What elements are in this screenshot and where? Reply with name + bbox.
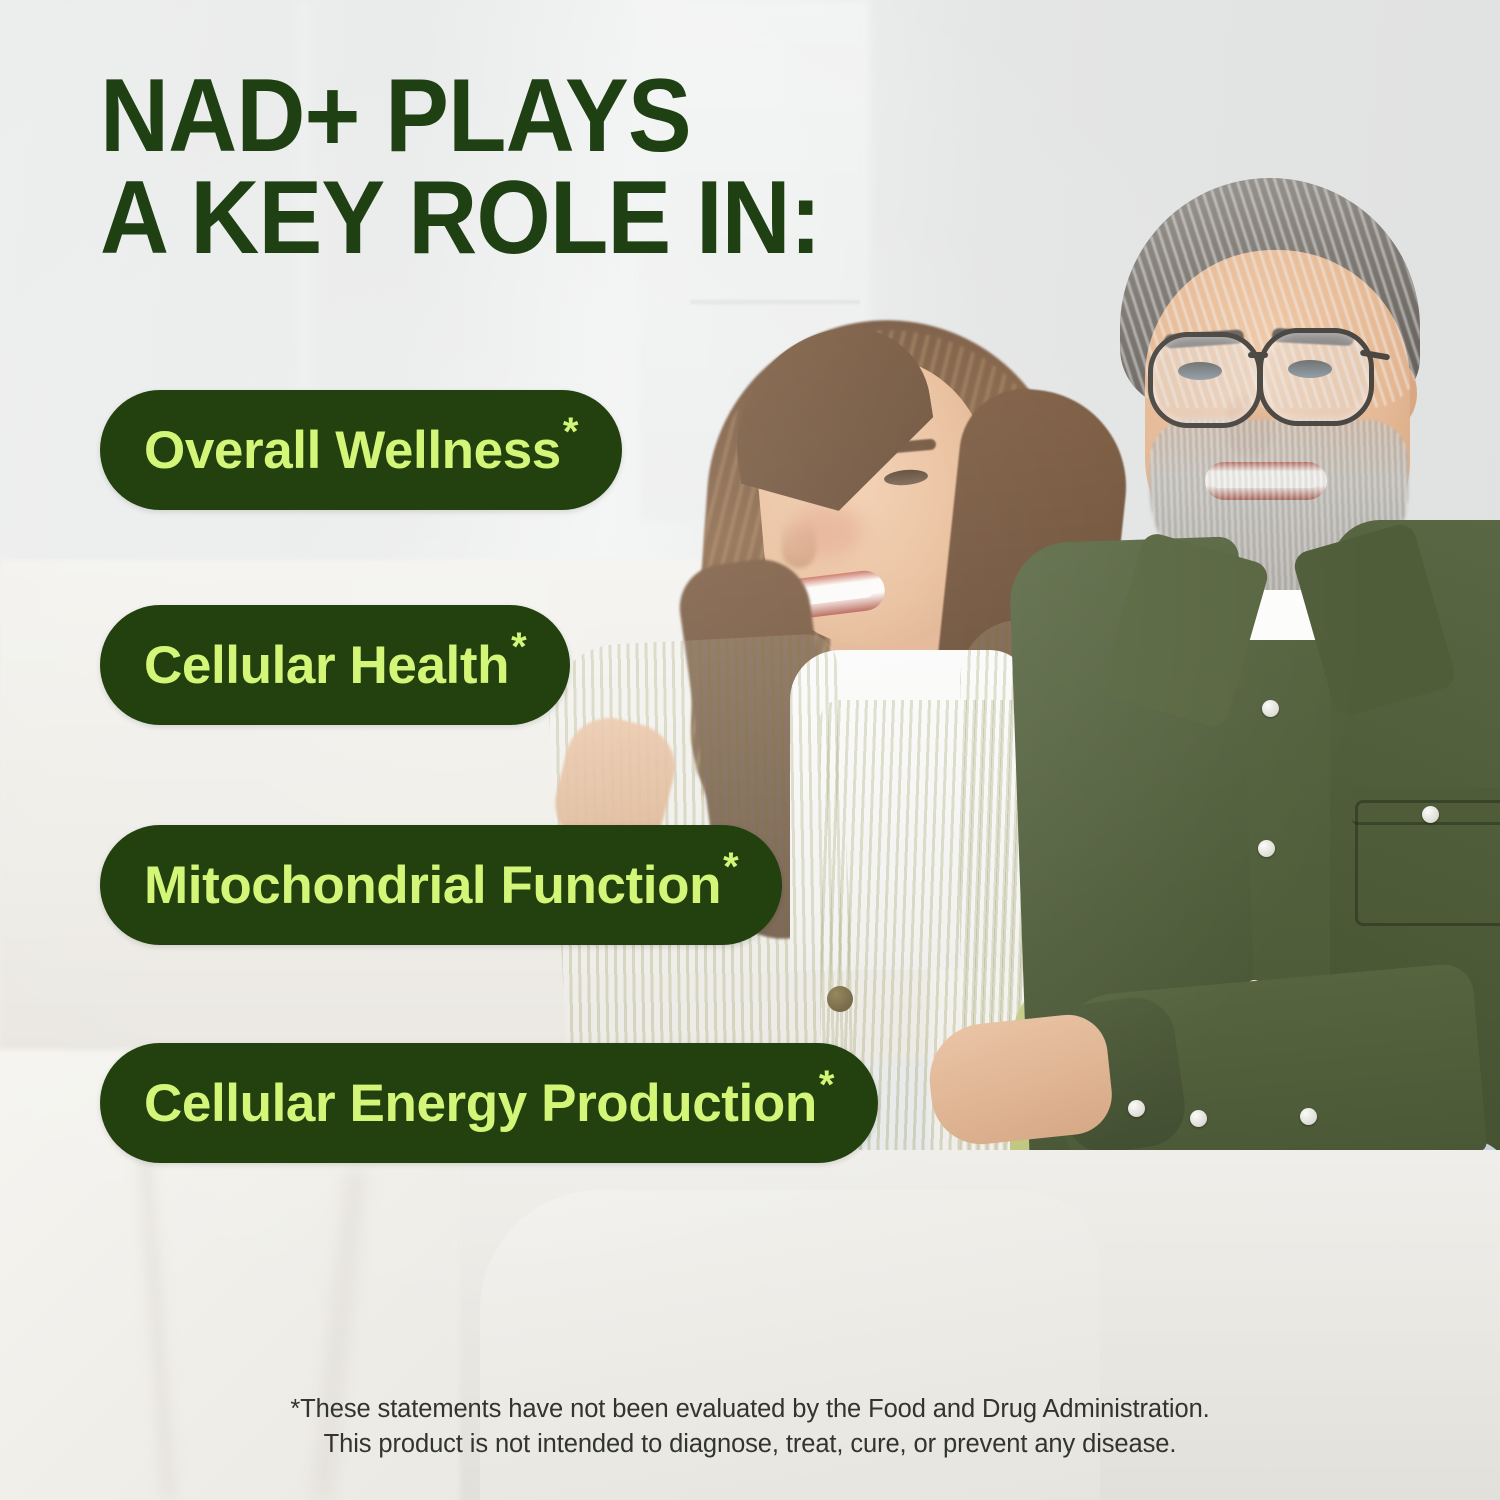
marketing-graphic: NAD+ PLAYS A KEY ROLE IN: Overall Wellne… (0, 0, 1500, 1500)
benefit-pill-overall-wellness: Overall Wellness* (100, 390, 622, 510)
benefit-pill-label: Cellular Health (144, 635, 509, 696)
benefit-pill-cellular-health: Cellular Health* (100, 605, 570, 725)
benefit-pill-label: Overall Wellness (144, 420, 561, 481)
benefit-pill-label: Mitochondrial Function (144, 855, 721, 916)
fda-disclaimer: *These statements have not been evaluate… (0, 1392, 1500, 1462)
benefit-pill-mitochondrial-function: Mitochondrial Function* (100, 825, 782, 945)
page-title: NAD+ PLAYS A KEY ROLE IN: (100, 66, 821, 270)
benefit-pill-cellular-energy-production: Cellular Energy Production* (100, 1043, 878, 1163)
benefit-pill-label: Cellular Energy Production (144, 1073, 817, 1134)
